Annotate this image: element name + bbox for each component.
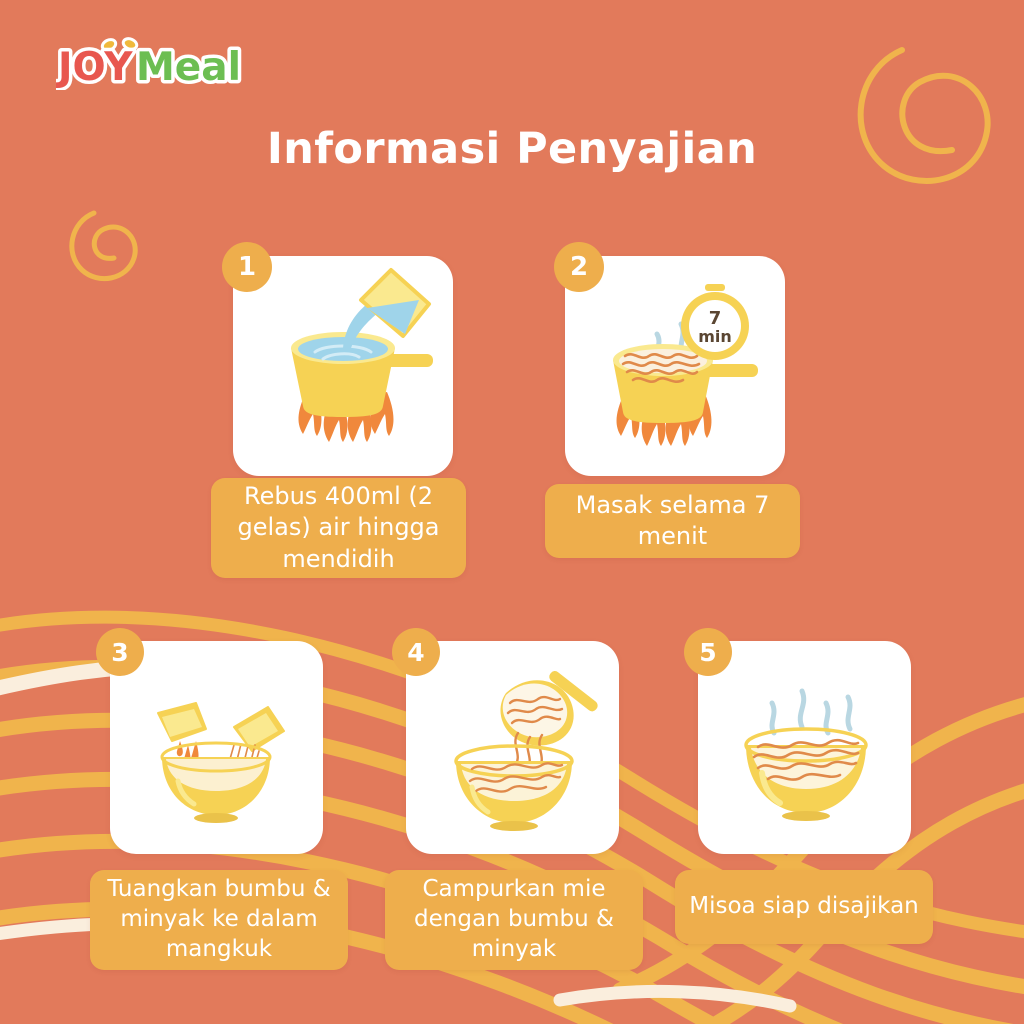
logo-text-joy: JOY bbox=[56, 45, 133, 90]
step-1-number-badge: 1 bbox=[222, 242, 272, 292]
step-3-caption: Tuangkan bumbu & minyak ke dalam mangkuk bbox=[90, 870, 348, 970]
step-5-illustration-card bbox=[698, 641, 911, 854]
spiral-left-icon bbox=[72, 213, 135, 279]
pot-with-noodles-and-timer-icon: 7 min bbox=[565, 256, 785, 476]
timer-unit: min bbox=[698, 327, 732, 346]
bowl-with-seasoning-sachets-icon bbox=[110, 641, 323, 854]
step-4-number-badge: 4 bbox=[392, 628, 440, 676]
logo-text-meal: Meal bbox=[136, 45, 241, 90]
oil-sachet-icon bbox=[158, 703, 206, 741]
step-4-illustration-card bbox=[406, 641, 619, 854]
pot-with-water-and-pitcher-icon bbox=[233, 256, 453, 476]
brand-logo[interactable]: JOY Meal JOY Meal bbox=[56, 36, 246, 90]
step-5-caption: Misoa siap disajikan bbox=[675, 870, 933, 944]
step-1-caption: Rebus 400ml (2 gelas) air hingga mendidi… bbox=[211, 478, 466, 578]
step-2-number-badge: 2 bbox=[554, 242, 604, 292]
steaming-bowl-of-noodles-icon bbox=[698, 641, 911, 854]
timer-value: 7 bbox=[709, 308, 722, 329]
strainer-icon bbox=[500, 680, 573, 745]
step-1-illustration-card bbox=[233, 256, 453, 476]
strainer-pouring-noodles-into-bowl-icon bbox=[406, 641, 619, 854]
step-3-number-badge: 3 bbox=[96, 628, 144, 676]
serving-instructions-infographic: JOY Meal JOY Meal Informasi Penyajian bbox=[0, 0, 1024, 1024]
page-title: Informasi Penyajian bbox=[0, 124, 1024, 174]
step-4-caption: Campurkan mie dengan bumbu & minyak bbox=[385, 870, 643, 970]
step-5-number-badge: 5 bbox=[684, 628, 732, 676]
timer-badge-icon: 7 min bbox=[681, 284, 749, 360]
step-2-caption: Masak selama 7 menit bbox=[545, 484, 800, 558]
step-2-illustration-card: 7 min bbox=[565, 256, 785, 476]
step-3-illustration-card bbox=[110, 641, 323, 854]
